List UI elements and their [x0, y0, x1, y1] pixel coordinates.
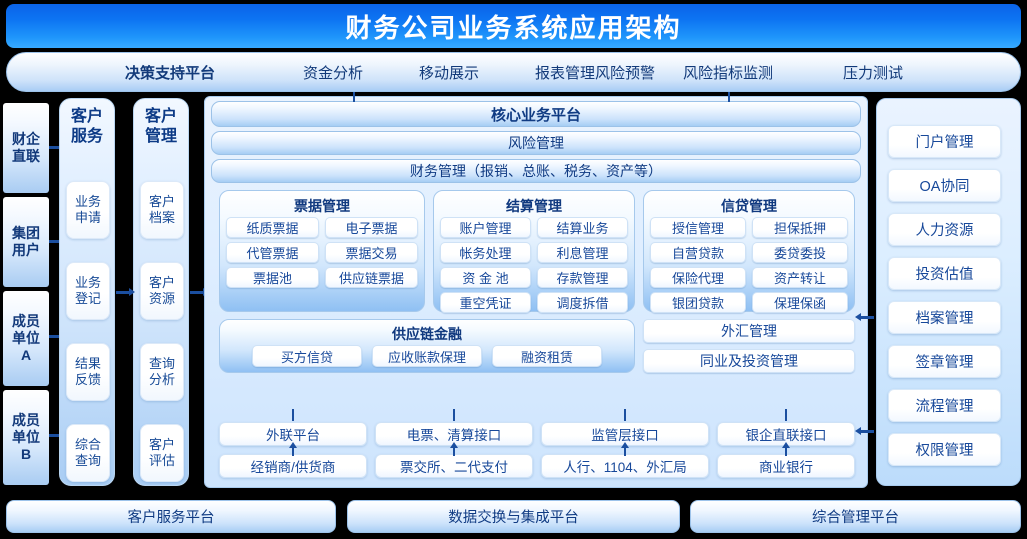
- chip-settlement-business[interactable]: 结算业务: [537, 217, 628, 238]
- customer-service-item-comprehensive-query[interactable]: 综合 查询: [66, 424, 110, 482]
- platform-bar-customer-service[interactable]: 客户服务平台: [6, 500, 336, 533]
- cell-line2: 资源: [149, 291, 175, 307]
- chip-deposit-management[interactable]: 存款管理: [537, 267, 628, 288]
- connector-core-to-interface-1: [453, 409, 455, 421]
- channel-box-group-user[interactable]: 集团 用户: [3, 197, 49, 287]
- customer-management-item-query-analysis[interactable]: 查询 分析: [140, 343, 184, 401]
- cell-line1: 业务: [75, 275, 101, 291]
- channel-label-line2: 单位: [12, 330, 40, 347]
- customer-management-item-customer-resource[interactable]: 客户 资源: [140, 262, 184, 320]
- fx-management-bar[interactable]: 外汇管理: [643, 319, 855, 343]
- chip-financial-leasing[interactable]: 融资租赁: [492, 345, 602, 367]
- group-title: 票据管理: [220, 196, 424, 216]
- cell-line2: 登记: [75, 291, 101, 307]
- customer-service-item-business-registration[interactable]: 业务 登记: [66, 262, 110, 320]
- customer-management-item-customer-evaluation[interactable]: 客户 评估: [140, 424, 184, 482]
- page-title-bar: 财务公司业务系统应用架构: [6, 4, 1021, 48]
- connector-arrow-interface-0-icon: [289, 442, 297, 448]
- group-items: 买方信贷 应收账款保理 融资租赁: [242, 345, 612, 367]
- channel-label-line1: 成员: [12, 412, 40, 429]
- decision-item-stress-test[interactable]: 压力测试: [843, 62, 903, 83]
- chip-receivables-factoring[interactable]: 应收账款保理: [372, 345, 482, 367]
- group-items: 纸质票据 电子票据 代管票据 票据交易 票据池 供应链票据: [226, 217, 418, 288]
- cell-line1: 客户: [149, 437, 175, 453]
- chip-accounting-processing[interactable]: 帐务处理: [440, 242, 531, 263]
- chip-cash-pool[interactable]: 资 金 池: [440, 267, 531, 288]
- channel-label-line1: 集团: [12, 225, 40, 242]
- core-platform-bar: 核心业务平台: [211, 101, 861, 127]
- connector-customer-to-core: [190, 291, 204, 294]
- group-supply-chain-finance: 供应链金融 买方信贷 应收账款保理 融资租赁: [219, 319, 635, 373]
- cell-line2: 申请: [75, 210, 101, 226]
- core-business-panel: 核心业务平台 风险管理 财务管理（报销、总账、税务、资产等） 票据管理 纸质票据…: [204, 96, 868, 488]
- chip-insurance-agency[interactable]: 保险代理: [650, 267, 746, 288]
- group-title: 结算管理: [434, 196, 634, 216]
- page-title: 财务公司业务系统应用架构: [345, 8, 681, 45]
- channel-label-line2: 直联: [12, 148, 40, 165]
- customer-service-item-result-feedback[interactable]: 结果 反馈: [66, 343, 110, 401]
- customer-service-column: 客户 服务 业务 申请 业务 登记 结果 反馈 综合 查询: [59, 98, 115, 486]
- group-bills-management: 票据管理 纸质票据 电子票据 代管票据 票据交易 票据池 供应链票据: [219, 190, 425, 312]
- connector-core-to-interface-2: [624, 409, 626, 421]
- title-line1: 客户: [134, 107, 188, 127]
- cell-line2: 评估: [149, 453, 175, 469]
- cell-line1: 结果: [75, 356, 101, 372]
- cell-line2: 分析: [149, 372, 175, 388]
- chip-blank-voucher[interactable]: 重空凭证: [440, 292, 531, 313]
- connector-customer-columns: [116, 291, 130, 294]
- counterparty-exchange-cnaps2[interactable]: 票交所、二代支付: [375, 454, 533, 478]
- channel-label-line2: 单位: [12, 429, 40, 446]
- customer-management-title: 客户 管理: [134, 107, 188, 146]
- cell-line1: 查询: [149, 356, 175, 372]
- chip-entrusted-loan-investment[interactable]: 委贷委投: [752, 242, 848, 263]
- channel-box-member-unit-b[interactable]: 成员 单位 B: [3, 390, 49, 485]
- decision-support-label: 决策支持平台: [125, 62, 215, 83]
- counterparty-commercial-bank[interactable]: 商业银行: [717, 454, 855, 478]
- group-title: 供应链金融: [220, 324, 634, 344]
- channel-label-line2: 用户: [12, 242, 40, 259]
- right-item-investment-valuation[interactable]: 投资估值: [888, 257, 1001, 290]
- decision-item-fund-analysis[interactable]: 资金分析: [303, 62, 363, 83]
- chip-buyer-credit[interactable]: 买方信贷: [252, 345, 362, 367]
- connector-decision-to-core-1: [728, 92, 730, 102]
- chip-factoring-guarantee[interactable]: 保理保函: [752, 292, 848, 313]
- cell-line1: 客户: [149, 194, 175, 210]
- title-line2: 服务: [60, 127, 114, 147]
- connector-arrow-customer-columns-icon: [129, 288, 135, 296]
- decision-support-bar: 决策支持平台 资金分析 移动展示 报表管理风险预警 风险指标监测 压力测试: [6, 52, 1021, 92]
- chip-supply-chain-bill[interactable]: 供应链票据: [325, 267, 418, 288]
- customer-management-item-customer-file[interactable]: 客户 档案: [140, 181, 184, 239]
- right-item-process-management[interactable]: 流程管理: [888, 389, 1001, 422]
- channel-label-line3: B: [12, 446, 40, 463]
- connector-core-to-interface-3: [785, 409, 787, 421]
- interbank-investment-management-bar[interactable]: 同业及投资管理: [643, 349, 855, 373]
- decision-item-risk-indicator-monitor[interactable]: 风险指标监测: [683, 62, 773, 83]
- right-item-portal-management[interactable]: 门户管理: [888, 125, 1001, 158]
- counterparty-pboc-1104-safe[interactable]: 人行、1104、外汇局: [541, 454, 709, 478]
- platform-bar-data-exchange-integration[interactable]: 数据交换与集成平台: [347, 500, 680, 533]
- chip-bill-trading[interactable]: 票据交易: [325, 242, 418, 263]
- customer-service-item-business-application[interactable]: 业务 申请: [66, 181, 110, 239]
- right-item-oa-collaboration[interactable]: OA协同: [888, 169, 1001, 202]
- group-settlement-management: 结算管理 账户管理 结算业务 帐务处理 利息管理 资 金 池 存款管理 重空凭证…: [433, 190, 635, 312]
- cell-line2: 档案: [149, 210, 175, 226]
- right-item-seal-management[interactable]: 签章管理: [888, 345, 1001, 378]
- title-line1: 客户: [60, 107, 114, 127]
- platform-bar-comprehensive-management[interactable]: 综合管理平台: [690, 500, 1021, 533]
- channel-box-member-unit-a[interactable]: 成员 单位 A: [3, 291, 49, 386]
- connector-core-to-interface-0: [292, 409, 294, 421]
- group-items: 授信管理 担保抵押 自营贷款 委贷委投 保险代理 资产转让 银团贷款 保理保函: [650, 217, 848, 313]
- chip-guarantee-mortgage[interactable]: 担保抵押: [752, 217, 848, 238]
- connector-arrow-interface-2-icon: [621, 442, 629, 448]
- group-credit-management: 信贷管理 授信管理 担保抵押 自营贷款 委贷委投 保险代理 资产转让 银团贷款 …: [643, 190, 855, 312]
- finance-management-bar[interactable]: 财务管理（报销、总账、税务、资产等）: [211, 159, 861, 183]
- chip-account-management[interactable]: 账户管理: [440, 217, 531, 238]
- customer-service-title: 客户 服务: [60, 107, 114, 146]
- chip-bill-pool[interactable]: 票据池: [226, 267, 319, 288]
- right-item-archive-management[interactable]: 档案管理: [888, 301, 1001, 334]
- chip-paper-bill[interactable]: 纸质票据: [226, 217, 319, 238]
- group-title: 信贷管理: [644, 196, 854, 216]
- management-support-column: 门户管理 OA协同 人力资源 投资估值 档案管理 签章管理 流程管理 权限管理: [876, 98, 1021, 486]
- channel-label-line1: 成员: [12, 313, 40, 330]
- chip-custody-bill[interactable]: 代管票据: [226, 242, 319, 263]
- connector-arrow-interface-3-icon: [782, 442, 790, 448]
- connector-arrow-core-to-right-0-icon: [855, 313, 861, 321]
- connector-decision-to-core-0: [353, 92, 355, 102]
- title-line2: 管理: [134, 127, 188, 147]
- channel-label-line1: 财企: [12, 131, 40, 148]
- cell-line1: 综合: [75, 437, 101, 453]
- architecture-diagram-page: 财务公司业务系统应用架构 决策支持平台 资金分析 移动展示 报表管理风险预警 风…: [0, 0, 1027, 539]
- cell-line1: 业务: [75, 194, 101, 210]
- cell-line2: 反馈: [75, 372, 101, 388]
- right-item-permission-management[interactable]: 权限管理: [888, 433, 1001, 466]
- right-item-human-resources[interactable]: 人力资源: [888, 213, 1001, 246]
- counterparty-dealer-supplier[interactable]: 经销商/供货商: [219, 454, 367, 478]
- chip-syndicated-loan[interactable]: 银团贷款: [650, 292, 746, 313]
- connector-arrow-interface-1-icon: [450, 442, 458, 448]
- chip-interest-management[interactable]: 利息管理: [537, 242, 628, 263]
- cell-line2: 查询: [75, 453, 101, 469]
- chip-asset-transfer[interactable]: 资产转让: [752, 267, 848, 288]
- connector-arrow-core-to-right-1-icon: [855, 427, 861, 435]
- chip-electronic-bill[interactable]: 电子票据: [325, 217, 418, 238]
- channel-box-direct-link[interactable]: 财企 直联: [3, 103, 49, 193]
- chip-credit-granting[interactable]: 授信管理: [650, 217, 746, 238]
- customer-management-column: 客户 管理 客户 档案 客户 资源 查询 分析 客户 评估: [133, 98, 189, 486]
- decision-item-report-risk-alert[interactable]: 报表管理风险预警: [535, 62, 655, 83]
- decision-item-mobile-display[interactable]: 移动展示: [419, 62, 479, 83]
- channel-label-line3: A: [12, 347, 40, 364]
- cell-line1: 客户: [149, 275, 175, 291]
- risk-management-bar[interactable]: 风险管理: [211, 131, 861, 155]
- chip-self-operated-loan[interactable]: 自营贷款: [650, 242, 746, 263]
- group-items: 账户管理 结算业务 帐务处理 利息管理 资 金 池 存款管理 重空凭证 调度拆借: [440, 217, 628, 313]
- chip-dispatch-lending[interactable]: 调度拆借: [537, 292, 628, 313]
